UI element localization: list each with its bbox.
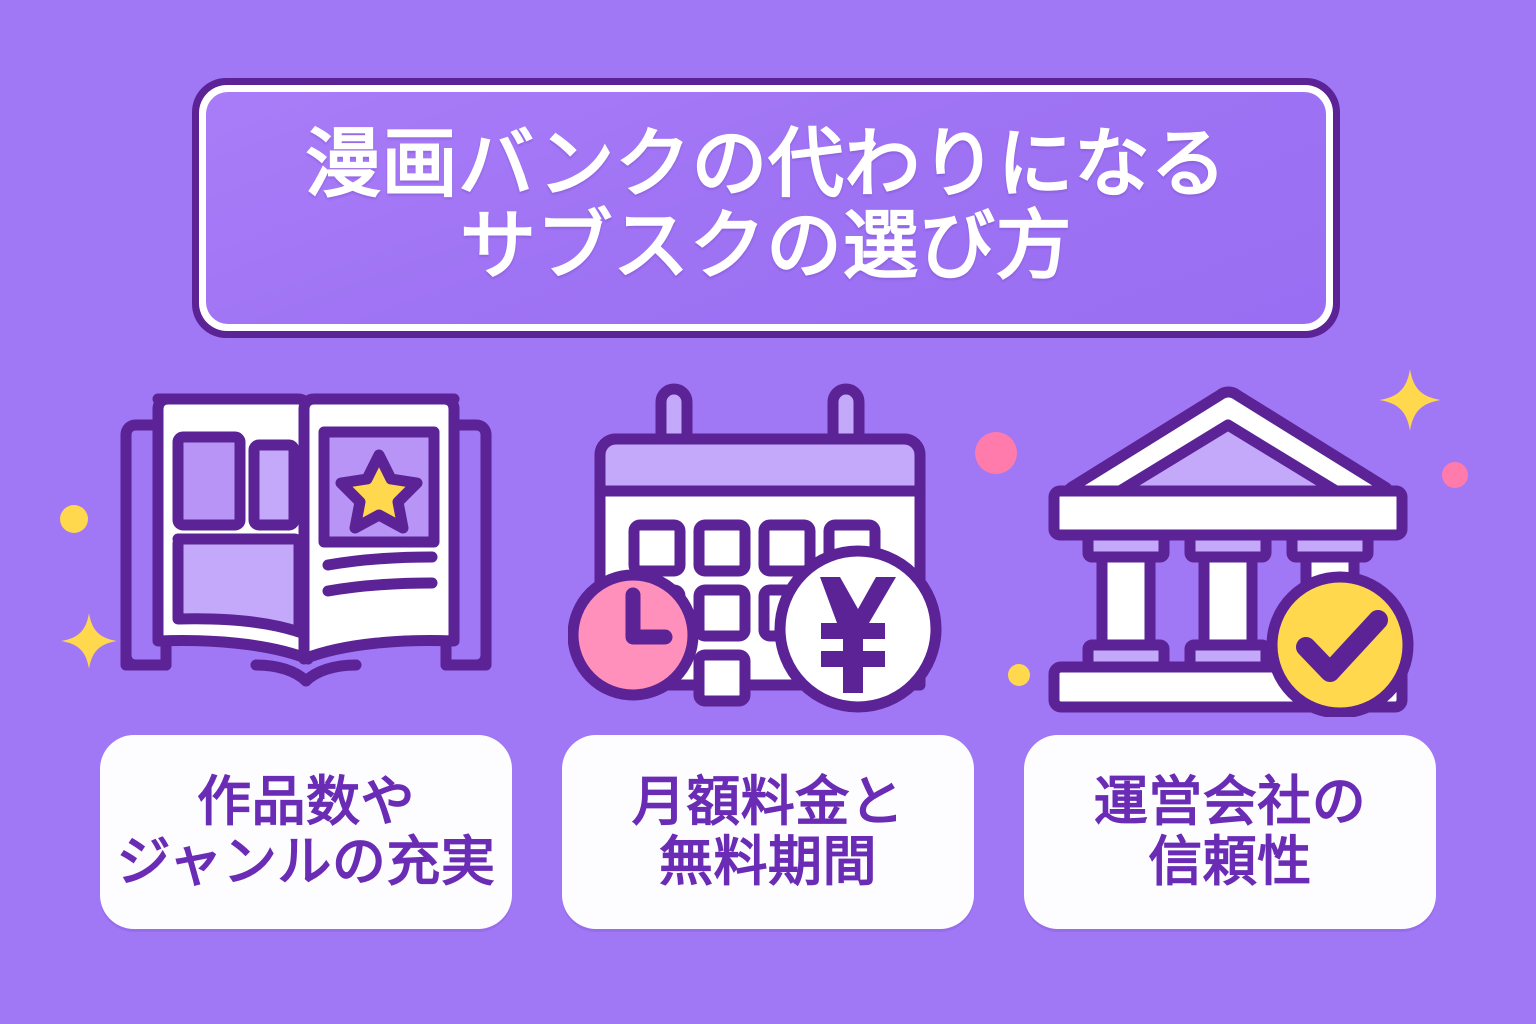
title-line-1: 漫画バンクの代わりになる (305, 124, 1227, 206)
feature-card-works-count[interactable]: 作品数や ジャンルの充実 (100, 735, 512, 929)
icon-slot-calendar (558, 372, 978, 722)
card-3-line-2: 信頼性 (1148, 832, 1312, 892)
calendar-clock-yen-icon (568, 377, 968, 717)
title-line-2: サブスクの選び方 (460, 206, 1072, 288)
feature-card-monthly-fee[interactable]: 月額料金と 無料期間 (562, 735, 974, 929)
title-banner: 漫画バンクの代わりになる サブスクの選び方 (192, 78, 1340, 338)
feature-card-company-trust[interactable]: 運営会社の 信頼性 (1024, 735, 1436, 929)
icon-row (0, 372, 1536, 722)
icon-slot-open-book (96, 372, 516, 722)
bank-check-icon (1030, 377, 1430, 717)
open-book-icon (106, 377, 506, 717)
infographic-canvas: 漫画バンクの代わりになる サブスクの選び方 (0, 0, 1536, 1024)
title-banner-fill: 漫画バンクの代わりになる サブスクの選び方 (206, 92, 1326, 324)
icon-slot-bank (1020, 372, 1440, 722)
card-2-line-2: 無料期間 (659, 832, 877, 892)
title-banner-white-border: 漫画バンクの代わりになる サブスクの選び方 (199, 85, 1333, 331)
card-1-line-1: 作品数や (197, 772, 415, 832)
card-2-line-1: 月額料金と (632, 772, 905, 832)
card-3-line-1: 運営会社の (1094, 772, 1367, 832)
card-1-line-2: ジャンルの充実 (117, 832, 496, 892)
